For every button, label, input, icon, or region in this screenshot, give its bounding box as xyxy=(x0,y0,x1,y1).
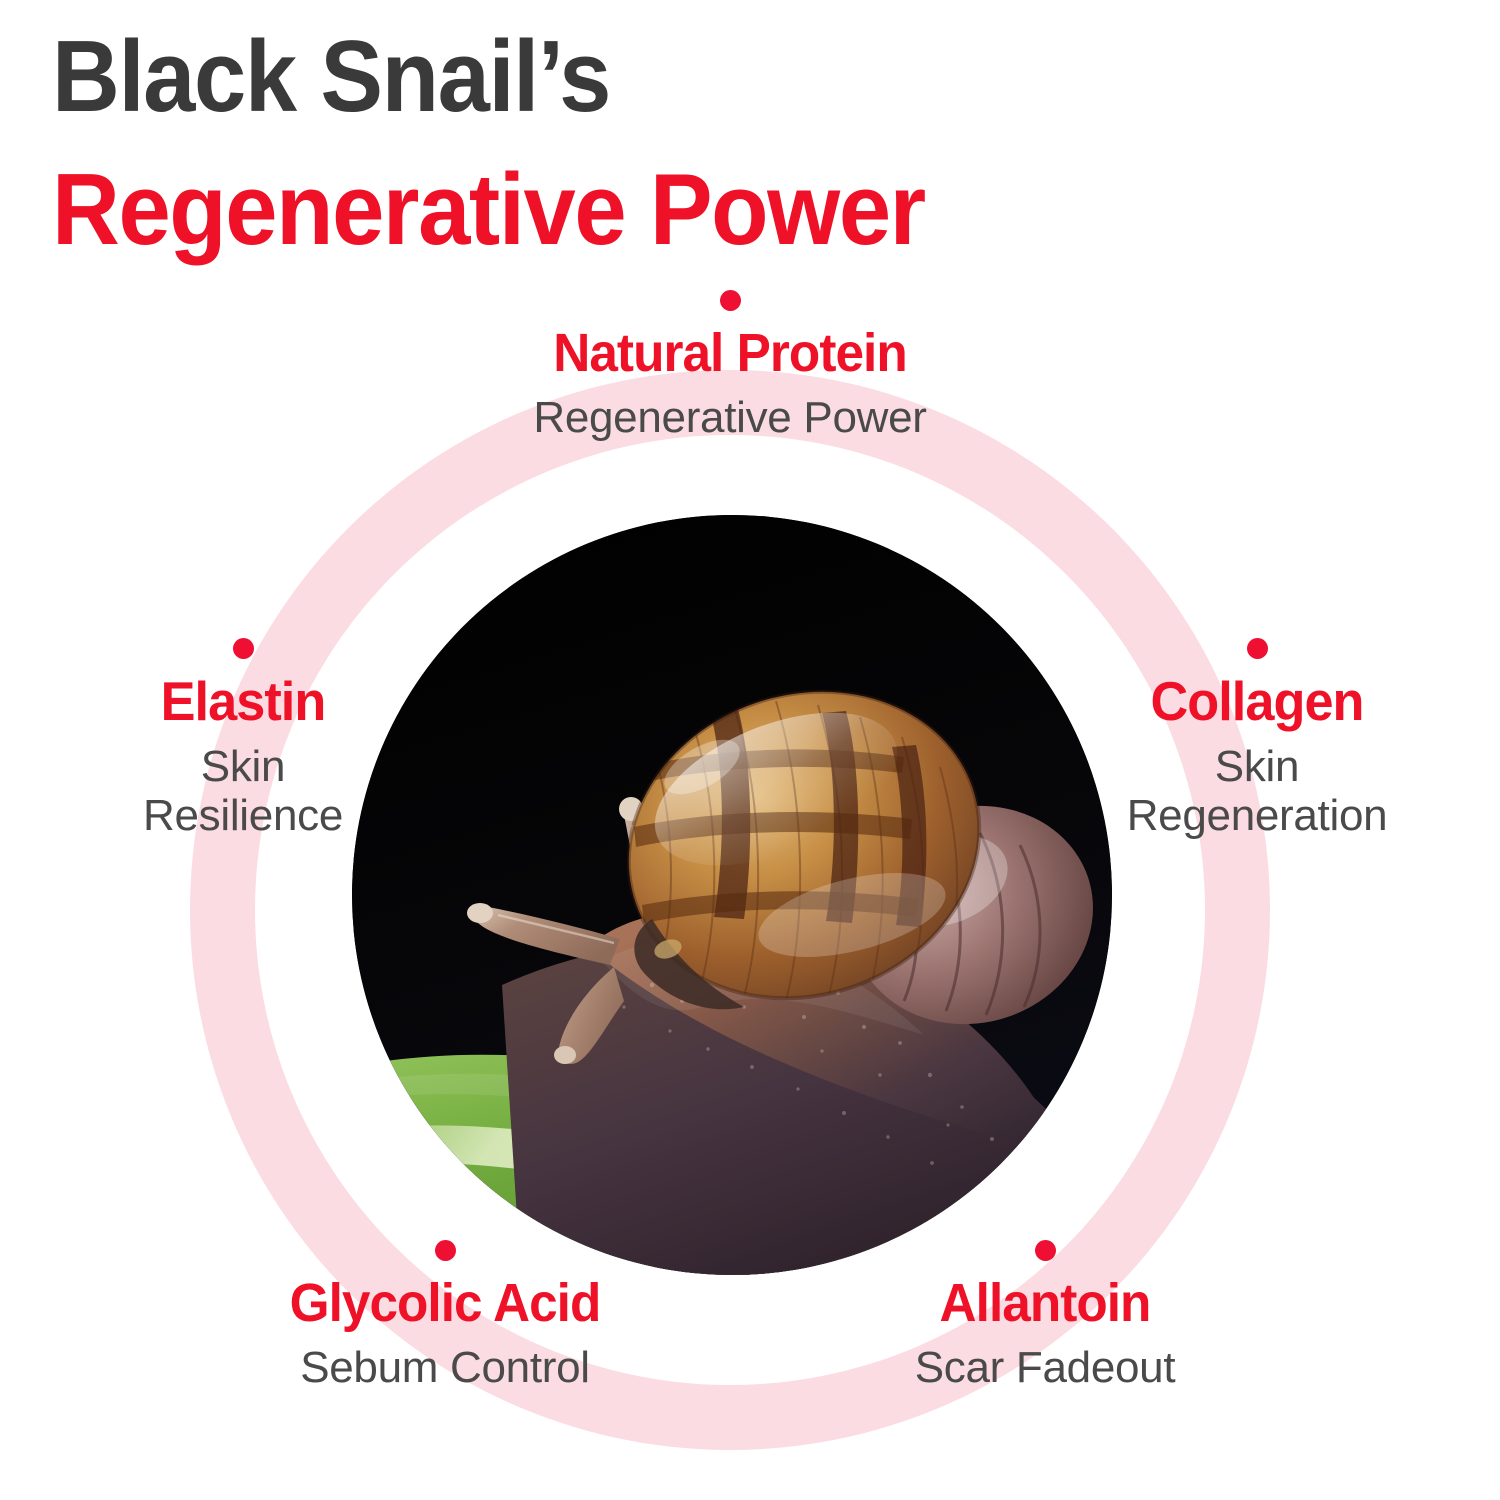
callout-subtitle-line: Skin xyxy=(78,742,408,791)
bullet-dot-icon xyxy=(233,638,254,659)
callout-subtitle-line: Skin xyxy=(1082,742,1432,791)
callout-title: Elastin xyxy=(86,673,400,730)
bullet-dot-icon xyxy=(435,1240,456,1261)
callout-subtitle: Scar Fadeout xyxy=(845,1343,1245,1392)
callout-title: Allantoin xyxy=(855,1275,1235,1331)
callout-elastin: Elastin Skin Resilience xyxy=(78,638,408,841)
page-title: Black Snail’s Regenerative Power xyxy=(52,26,1352,262)
callout-subtitle: Sebum Control xyxy=(220,1343,670,1392)
infographic-canvas: Black Snail’s Regenerative Power xyxy=(0,0,1500,1500)
snail-illustration xyxy=(352,515,1112,1275)
bullet-dot-icon xyxy=(720,290,741,311)
callout-glycolic-acid: Glycolic Acid Sebum Control xyxy=(220,1240,670,1392)
callout-subtitle: Skin Resilience xyxy=(78,742,408,841)
snail-photo xyxy=(352,515,1112,1275)
callout-subtitle: Skin Regeneration xyxy=(1082,742,1432,841)
callout-subtitle-line: Resilience xyxy=(78,791,408,840)
callout-subtitle: Regenerative Power xyxy=(455,393,1005,442)
bullet-dot-icon xyxy=(1247,638,1268,659)
bullet-dot-icon xyxy=(1035,1240,1056,1261)
headline-line-1: Black Snail’s xyxy=(52,26,1261,129)
callout-allantoin: Allantoin Scar Fadeout xyxy=(845,1240,1245,1392)
headline-line-2: Regenerative Power xyxy=(52,159,1261,262)
callout-title: Natural Protein xyxy=(469,325,992,381)
callout-title: Collagen xyxy=(1091,673,1424,730)
callout-natural-protein: Natural Protein Regenerative Power xyxy=(455,290,1005,442)
callout-title: Glycolic Acid xyxy=(231,1275,659,1331)
callout-collagen: Collagen Skin Regeneration xyxy=(1082,638,1432,841)
callout-subtitle-line: Regeneration xyxy=(1082,791,1432,840)
